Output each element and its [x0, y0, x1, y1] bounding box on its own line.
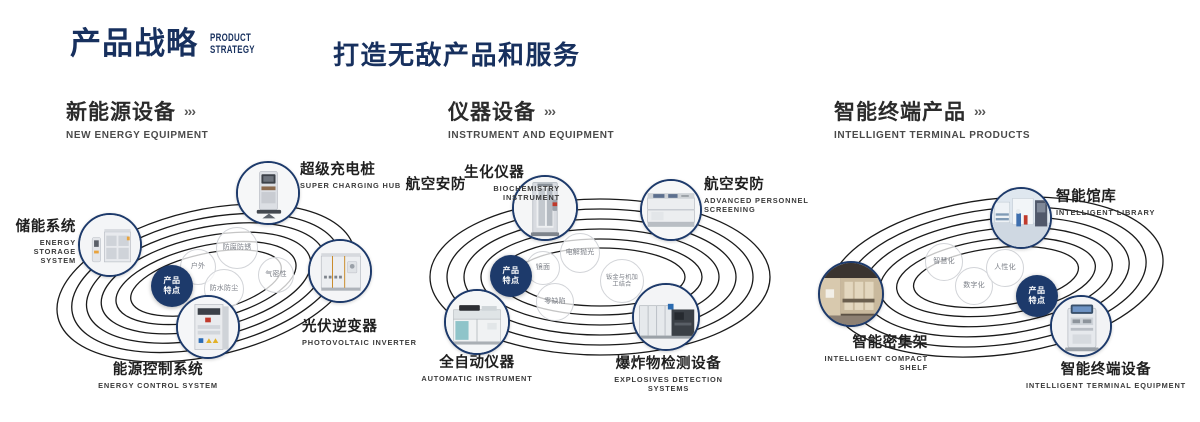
- node-label-intelligent-library: 智能馆库 INTELLIGENT LIBRARY: [1056, 185, 1186, 217]
- product-bubble-compact-shelf[interactable]: [818, 261, 884, 327]
- product-strategy-infographic: 产品战略 PRODUCT STRATEGY 打造无敌产品和服务 新能源设备›››…: [0, 0, 1200, 422]
- chevrons-right-icon: ›››: [974, 103, 985, 119]
- section-heading-cn: 智能终端产品: [834, 96, 966, 126]
- feature-bubble-airtight: 气密性: [258, 257, 294, 293]
- page-title-en: PRODUCT STRATEGY: [210, 33, 255, 57]
- product-bubble-automatic-instrument[interactable]: [444, 289, 510, 355]
- product-bubble-energy-storage[interactable]: [78, 213, 142, 277]
- self-service-kiosk-icon: [1052, 297, 1110, 355]
- product-bubble-intelligent-terminal[interactable]: [1050, 295, 1112, 357]
- section-heading-en: INTELLIGENT TERMINAL PRODUCTS: [834, 130, 1030, 141]
- pv-inverter-cabinet-icon: [310, 241, 370, 301]
- section-heading-cn: 仪器设备: [448, 96, 536, 126]
- product-bubble-explosives-detection[interactable]: [632, 283, 700, 351]
- automatic-analyzer-icon: [446, 291, 508, 353]
- diagram-new-energy: 户外 防腐防锈 防水防尘 气密性 产品特点: [10, 155, 410, 395]
- page-title-cn: 产品战略: [70, 28, 198, 59]
- section-heading-instrument: 仪器设备››› INSTRUMENT AND EQUIPMENT: [448, 96, 614, 141]
- feature-bubble-zero-defect: 零缺陷: [536, 283, 574, 321]
- library-interior-icon: [992, 189, 1050, 247]
- feature-bubble-anticorrosion: 防腐防锈: [216, 227, 258, 269]
- product-bubble-charging-hub[interactable]: [236, 161, 300, 225]
- node-label-intelligent-terminal: 智能终端设备 INTELLIGENT TERMINAL EQUIPMENT: [1016, 358, 1196, 390]
- chevrons-right-icon: ›››: [184, 103, 195, 119]
- node-label-explosives-detection: 爆炸物检测设备 EXPLOSIVES DETECTION SYSTEMS: [596, 352, 741, 393]
- section-heading-cn: 新能源设备: [66, 96, 176, 126]
- section-heading-en: INSTRUMENT AND EQUIPMENT: [448, 130, 614, 141]
- diagram-intelligent-terminal: 智慧化 数字化 人性化 产品特点: [800, 155, 1200, 395]
- explosives-detector-icon: [634, 285, 698, 349]
- node-label-personnel-screening: 航空安防 ADVANCED PERSONNEL SCREENING: [704, 173, 814, 214]
- energy-storage-cabinet-icon: [80, 215, 140, 275]
- node-label-biochemistry-instrument: 生化仪器 BIOCHEMISTRY INSTRUMENT: [464, 161, 584, 202]
- product-bubble-pv-inverter[interactable]: [308, 239, 372, 303]
- node-label-compact-shelf: 智能密集架 INTELLIGENT COMPACT SHELF: [800, 331, 928, 372]
- page-title-block: 产品战略 PRODUCT STRATEGY: [70, 28, 272, 59]
- control-cabinet-icon: [178, 297, 238, 357]
- section-heading-intelligent-terminal: 智能终端产品››› INTELLIGENT TERMINAL PRODUCTS: [834, 96, 1030, 141]
- product-bubble-personnel-screening[interactable]: [640, 179, 702, 241]
- feature-bubble-humanization: 人性化: [986, 249, 1024, 287]
- page-subtitle: 打造无敌产品和服务: [333, 35, 581, 72]
- section-heading-new-energy: 新能源设备››› NEW ENERGY EQUIPMENT: [66, 96, 208, 141]
- section-heading-en: NEW ENERGY EQUIPMENT: [66, 130, 208, 141]
- chevrons-right-icon: ›››: [544, 103, 555, 119]
- node-label-aviation-security-left: 航空安防: [386, 173, 466, 194]
- screening-machine-icon: [642, 181, 700, 239]
- node-label-energy-storage: 储能系统 ENERGY STORAGE SYSTEM: [0, 215, 76, 265]
- product-bubble-intelligent-library[interactable]: [990, 187, 1052, 249]
- product-bubble-energy-control[interactable]: [176, 295, 240, 359]
- node-label-automatic-instrument: 全自动仪器 AUTOMATIC INSTRUMENT: [412, 351, 542, 383]
- diagram-instrument: 镜面 电解抛光 零缺陷 钣金与机加工结合 产品特点: [400, 155, 800, 395]
- charging-pile-icon: [238, 163, 298, 223]
- feature-bubble-electropolish: 电解抛光: [560, 233, 600, 273]
- node-label-energy-control: 能源控制系统 ENERGY CONTROL SYSTEM: [78, 358, 238, 390]
- compact-shelving-icon: [820, 263, 882, 325]
